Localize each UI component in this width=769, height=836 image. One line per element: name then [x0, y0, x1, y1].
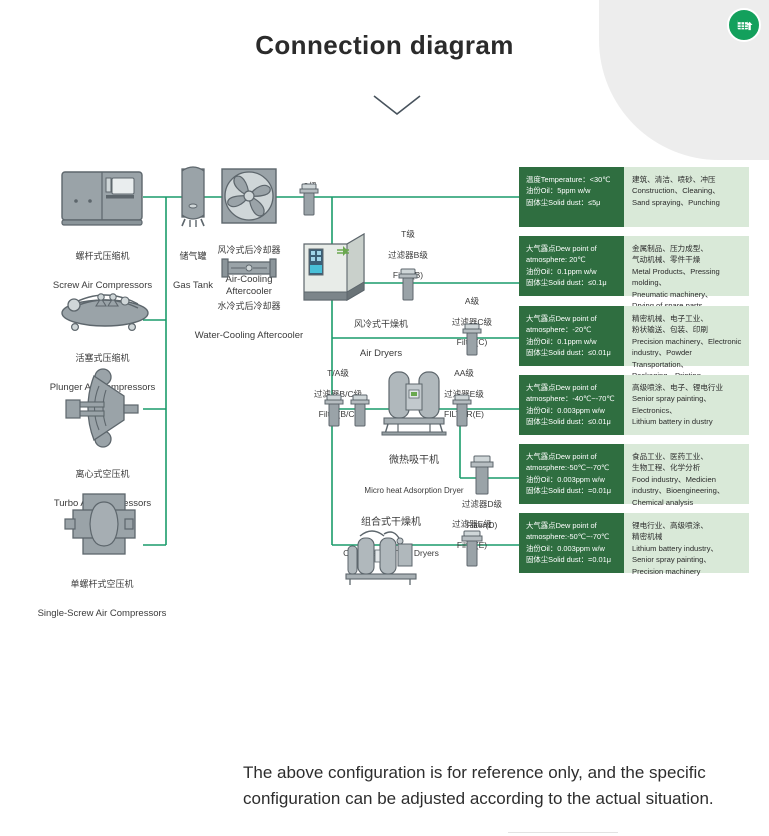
label-line2: 过滤器B级	[373, 250, 443, 260]
spec-row: 大气露点Dew point of atmosphere:-50℃~-70℃ 油份…	[519, 513, 749, 573]
fan-aftercooler-icon	[221, 168, 277, 224]
filter-c-top-icon	[299, 183, 319, 217]
caption-cn: 活塞式压缩机	[25, 353, 180, 364]
filter-e-top-icon	[452, 394, 472, 428]
spec-applications: 精密机械、电子工业、 粉状输送、包装、印刷 Precision machiner…	[624, 306, 749, 366]
spec-applications: 食品工业、医药工业、 生物工程、化学分析 Food industry、Medic…	[624, 444, 749, 504]
combination-dryer-icon	[344, 524, 420, 586]
caption-en: Single-Screw Air Compressors	[18, 608, 186, 619]
caption-en: Water-Cooling Aftercooler	[193, 330, 305, 341]
single-screw-compressor-caption: 单螺杆式空压机 Single-Screw Air Compressors	[18, 560, 186, 638]
filter-c-icon	[462, 323, 482, 357]
spec-values: 大气露点Dew point of atmosphere：-40℃~-70℃ 油份…	[519, 375, 624, 435]
spec-row: 大气露点Dew point of atmosphere:-50℃~-70℃ 油份…	[519, 444, 749, 504]
spec-applications: 建筑、清洁、喷砂、冲压 Construction、Cleaning、 Sand …	[624, 167, 749, 227]
caption-cn: 微热吸干机	[346, 455, 482, 467]
plunger-compressor-icon	[60, 280, 150, 332]
label-line1: 过滤器D级	[446, 499, 518, 509]
filter-b-icon	[398, 268, 418, 302]
spec-applications: 金属制品、压力成型、 气动机械、零件干燥 Metal Products、Pres…	[624, 236, 749, 296]
spec-values: 温度Temperature：<30℃ 油份Oil：5ppm w/w 固体尘Sol…	[519, 167, 624, 227]
label-line1: T级	[373, 229, 443, 239]
spec-values: 大气露点Dew point of atmosphere:-50℃~-70℃ 油份…	[519, 513, 624, 573]
spec-row: 大气露点Dew point of atmosphere：-20℃ 油份Oil：0…	[519, 306, 749, 366]
caption-cn: 单螺杆式空压机	[18, 579, 186, 590]
label-line1: AA级	[428, 368, 500, 378]
spec-values: 大气露点Dew point of atmosphere:-50℃~-70℃ 油份…	[519, 444, 624, 504]
caption-cn: 风冷式后冷却器	[203, 245, 295, 256]
label-line1: 过滤器E级	[436, 519, 508, 529]
footer-note: The above configuration is for reference…	[243, 760, 758, 812]
screw-compressor-icon	[60, 170, 144, 228]
spec-applications: 锂电行业、高级喷涂、 精密机械 Lithium battery industry…	[624, 513, 749, 573]
spec-row: 大气露点Dew point of atmosphere：-40℃~-70℃ 油份…	[519, 375, 749, 435]
filter-c-pair-icon	[350, 394, 370, 428]
label-line1: T/A级	[300, 368, 376, 378]
filter-e-bottom-icon	[461, 530, 483, 568]
label-line1: A级	[436, 296, 508, 306]
water-cooling-aftercooler-caption: 水冷式后冷却器 Water-Cooling Aftercooler	[193, 282, 305, 360]
caption-cn: 螺杆式压缩机	[25, 251, 180, 262]
filter-b-pair-icon	[324, 394, 344, 428]
single-screw-compressor-icon	[63, 490, 143, 558]
spec-row: 温度Temperature：<30℃ 油份Oil：5ppm w/w 固体尘Sol…	[519, 167, 749, 227]
caption-cn: 离心式空压机	[25, 469, 180, 480]
caption-cn: 水冷式后冷却器	[193, 301, 305, 312]
footer-divider	[508, 832, 618, 833]
spec-values: 大气露点Dew point of atmosphere: 20℃ 油份Oil：0…	[519, 236, 624, 296]
connection-diagram: 螺杆式压缩机 Screw Air Compressors 活塞式压缩机 Plun…	[0, 0, 769, 740]
spec-row: 大气露点Dew point of atmosphere: 20℃ 油份Oil：0…	[519, 236, 749, 296]
spec-applications: 高级喷涂、电子、锂电行业 Senior spray painting、 Elec…	[624, 375, 749, 435]
gas-tank-icon	[176, 163, 210, 229]
spec-values: 大气露点Dew point of atmosphere：-20℃ 油份Oil：0…	[519, 306, 624, 366]
caption-cn: 风冷式干燥机	[338, 319, 424, 330]
water-aftercooler-icon	[218, 256, 280, 280]
turbo-compressor-icon	[62, 368, 144, 448]
air-dryer-icon	[303, 232, 365, 304]
